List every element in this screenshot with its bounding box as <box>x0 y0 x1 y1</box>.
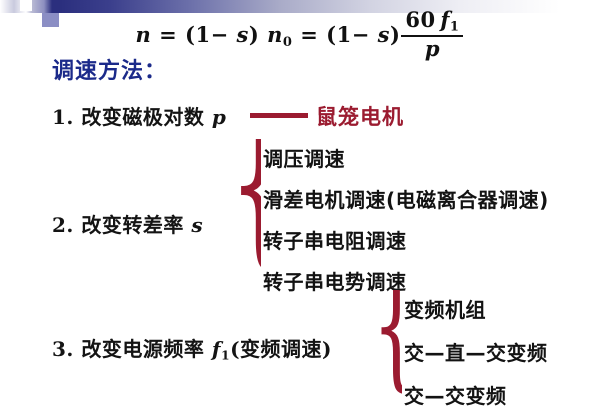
formula-eq2: = (1 <box>300 22 351 47</box>
list-item: 调压调速 <box>263 143 549 172</box>
method-2-number: 2. <box>52 213 74 237</box>
method-3-number: 3. <box>52 337 74 361</box>
slide-canvas: n = (1− s) n0 = (1− s) 60 f1 p 调速方法： 1. … <box>0 0 600 412</box>
formula-minus1: − <box>211 22 229 47</box>
method-1-label: 改变磁极对数 <box>81 105 204 129</box>
method-1-highlight: 鼠笼电机 <box>316 101 404 131</box>
list-item: 变频机组 <box>404 294 548 323</box>
brace-glyph-3: { <box>374 290 402 394</box>
formula-close2: ) <box>390 22 400 47</box>
method-3-suffix: (变频调速) <box>230 337 332 361</box>
list-item: 滑差电机调速(电磁离合器调速) <box>263 184 549 213</box>
method-3-variable-subscript: 1 <box>221 347 230 362</box>
method-2-label: 改变转差率 <box>81 213 184 237</box>
method-1-number: 1. <box>52 105 74 129</box>
formula-fraction: 60 f1 p <box>401 9 463 60</box>
formula-eq1: = (1 <box>159 22 210 47</box>
formula-denominator: p <box>401 37 463 60</box>
list-item: 转子串电阻调速 <box>263 225 549 254</box>
formula-s2: s <box>378 22 390 47</box>
method-3-sublist: 变频机组 交—直—交变频 交—交变频 <box>404 294 548 412</box>
formula-s1: s <box>237 22 249 47</box>
brace-item-2: { <box>231 139 261 287</box>
method-2-sublist: 调压调速 滑差电机调速(电磁离合器调速) 转子串电阻调速 转子串电势调速 <box>263 143 549 307</box>
formula-numerator-f: f <box>440 7 450 32</box>
method-item-1: 1. 改变磁极对数 p <box>52 101 226 130</box>
formula-n0-subscript: 0 <box>283 35 293 50</box>
brace-item-3: { <box>374 290 402 406</box>
formula-numerator: 60 f1 <box>401 9 463 37</box>
header-white-chip <box>20 0 32 11</box>
formula-close1: ) <box>249 22 259 47</box>
formula-n: n <box>136 22 152 47</box>
list-item: 交—直—交变频 <box>404 337 548 366</box>
page-title: 调速方法： <box>52 53 167 85</box>
method-3-label: 改变电源频率 <box>81 337 204 361</box>
formula-numerator-subscript: 1 <box>450 20 460 35</box>
brace-glyph-2: { <box>231 139 261 271</box>
formula-numerator-60: 60 <box>405 7 435 32</box>
method-1-variable: p <box>212 105 226 129</box>
method-1-connector-dash <box>250 113 308 118</box>
formula-n0: n <box>267 22 283 47</box>
list-item: 转子串电势调速 <box>263 266 549 295</box>
list-item: 交—交变频 <box>404 380 548 409</box>
method-item-3: 3. 改变电源频率 f1(变频调速) <box>52 333 332 362</box>
formula-minus2: − <box>352 22 370 47</box>
method-item-2: 2. 改变转差率 s <box>52 209 203 238</box>
method-3-variable: f <box>212 337 221 361</box>
method-2-variable: s <box>191 213 203 237</box>
